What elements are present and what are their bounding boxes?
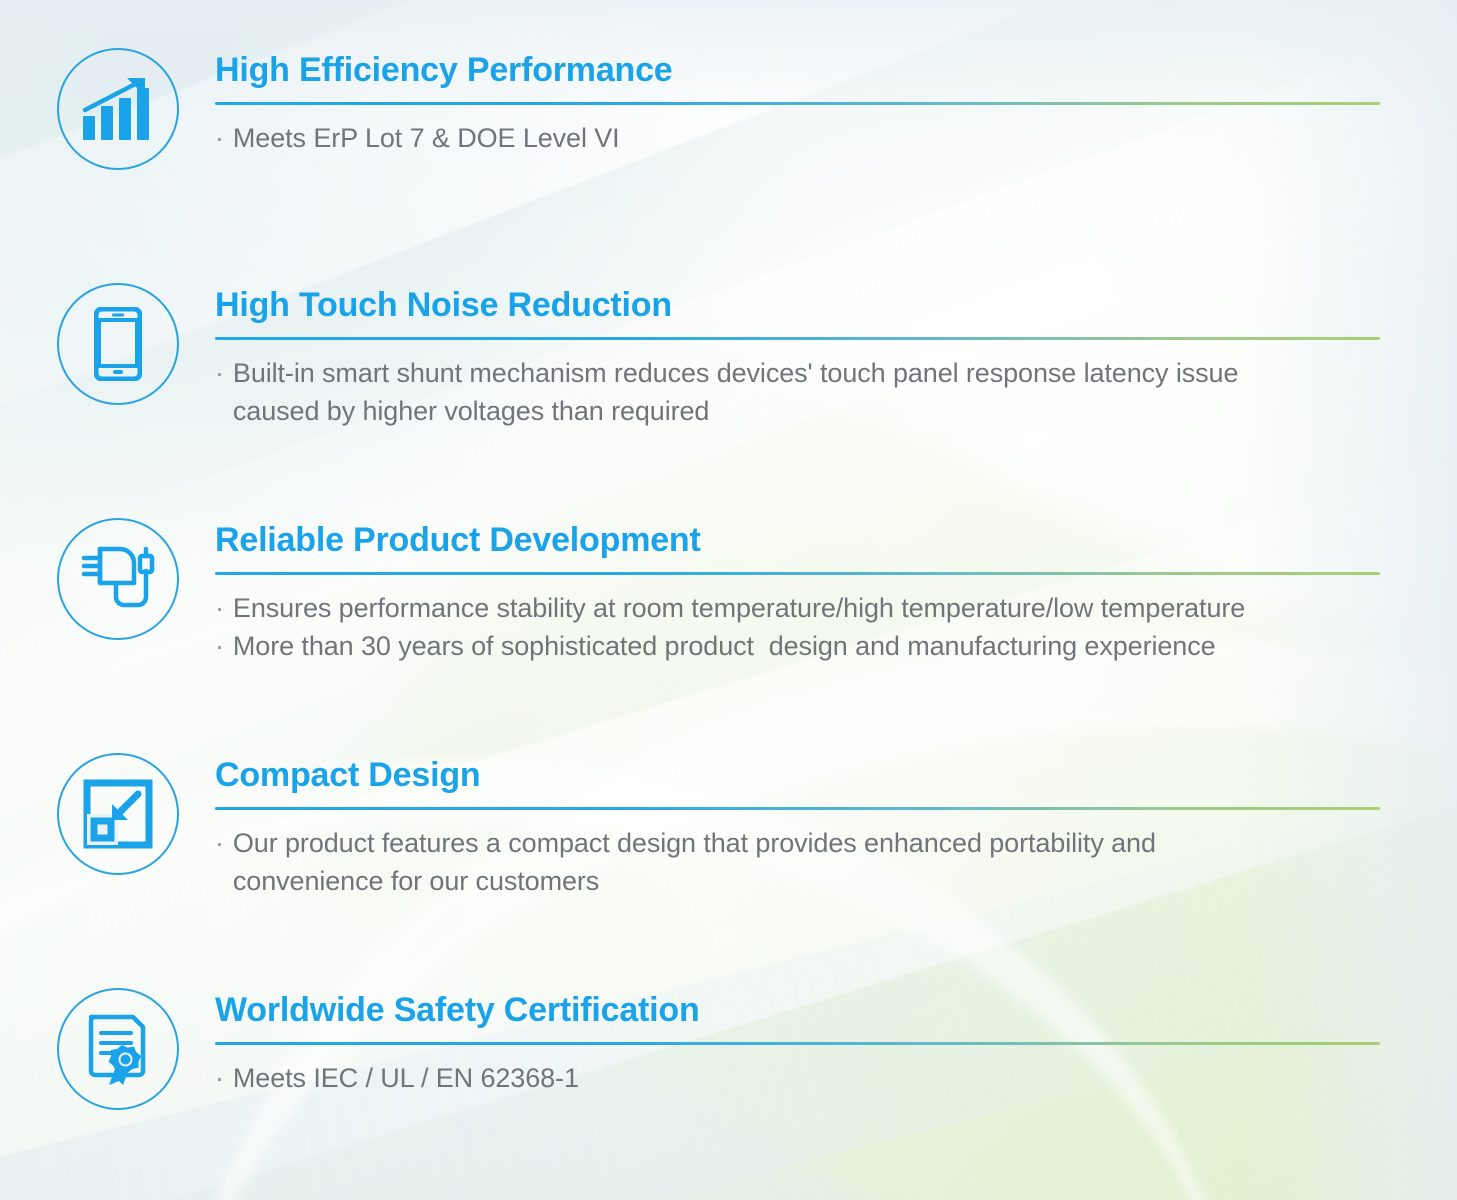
compact-resize-icon bbox=[57, 753, 179, 875]
feature-divider bbox=[215, 1042, 1380, 1045]
feature-highlights-panel: High Efficiency Performance · Meets ErP … bbox=[0, 0, 1457, 1200]
feature-divider bbox=[215, 337, 1380, 340]
bullet-item: · Meets ErP Lot 7 & DOE Level VI bbox=[215, 120, 1375, 157]
bullet-item: · More than 30 years of sophisticated pr… bbox=[215, 628, 1375, 665]
feature-divider bbox=[215, 572, 1380, 575]
feature-body: Reliable Product Development · Ensures p… bbox=[215, 518, 1375, 665]
bullet-text: Our product features a compact design th… bbox=[233, 825, 1156, 900]
feature-item-high-efficiency-performance: High Efficiency Performance · Meets ErP … bbox=[57, 48, 1375, 170]
feature-item-worldwide-safety-certification: Worldwide Safety Certification · Meets I… bbox=[57, 988, 1375, 1110]
bullet-marker: · bbox=[215, 825, 224, 862]
feature-item-high-touch-noise-reduction: High Touch Noise Reduction · Built-in sm… bbox=[57, 283, 1375, 430]
bullet-item: · Ensures performance stability at room … bbox=[215, 590, 1375, 627]
bullet-text: Ensures performance stability at room te… bbox=[233, 590, 1245, 627]
power-adapter-icon bbox=[57, 518, 179, 640]
feature-title: Reliable Product Development bbox=[215, 522, 1375, 559]
feature-divider bbox=[215, 102, 1380, 105]
smartphone-icon bbox=[57, 283, 179, 405]
feature-body: Worldwide Safety Certification · Meets I… bbox=[215, 988, 1375, 1098]
feature-divider bbox=[215, 807, 1380, 810]
feature-body: Compact Design · Our product features a … bbox=[215, 753, 1375, 900]
feature-title: Compact Design bbox=[215, 757, 1375, 794]
bullet-marker: · bbox=[215, 590, 224, 627]
certificate-seal-icon bbox=[57, 988, 179, 1110]
bullet-item: · Built-in smart shunt mechanism reduces… bbox=[215, 355, 1375, 430]
bullet-item: · Meets IEC / UL / EN 62368-1 bbox=[215, 1060, 1375, 1097]
feature-bullets: · Built-in smart shunt mechanism reduces… bbox=[215, 355, 1375, 430]
bullet-marker: · bbox=[215, 1060, 224, 1097]
feature-title: Worldwide Safety Certification bbox=[215, 992, 1375, 1029]
feature-bullets: · Meets IEC / UL / EN 62368-1 bbox=[215, 1060, 1375, 1097]
bullet-text: Meets ErP Lot 7 & DOE Level VI bbox=[233, 120, 620, 157]
bullet-text: More than 30 years of sophisticated prod… bbox=[233, 628, 1216, 665]
feature-title: High Touch Noise Reduction bbox=[215, 287, 1375, 324]
feature-item-compact-design: Compact Design · Our product features a … bbox=[57, 753, 1375, 900]
bullet-item: · Our product features a compact design … bbox=[215, 825, 1375, 900]
feature-bullets: · Meets ErP Lot 7 & DOE Level VI bbox=[215, 120, 1375, 157]
feature-body: High Efficiency Performance · Meets ErP … bbox=[215, 48, 1375, 158]
feature-bullets: · Ensures performance stability at room … bbox=[215, 590, 1375, 665]
feature-title: High Efficiency Performance bbox=[215, 52, 1375, 89]
bullet-marker: · bbox=[215, 355, 224, 392]
bullet-text: Meets IEC / UL / EN 62368-1 bbox=[233, 1060, 579, 1097]
bullet-marker: · bbox=[215, 628, 224, 665]
feature-body: High Touch Noise Reduction · Built-in sm… bbox=[215, 283, 1375, 430]
feature-item-reliable-product-development: Reliable Product Development · Ensures p… bbox=[57, 518, 1375, 665]
bullet-text: Built-in smart shunt mechanism reduces d… bbox=[233, 355, 1238, 430]
feature-bullets: · Our product features a compact design … bbox=[215, 825, 1375, 900]
bullet-marker: · bbox=[215, 120, 224, 157]
bar-chart-growth-icon bbox=[57, 48, 179, 170]
